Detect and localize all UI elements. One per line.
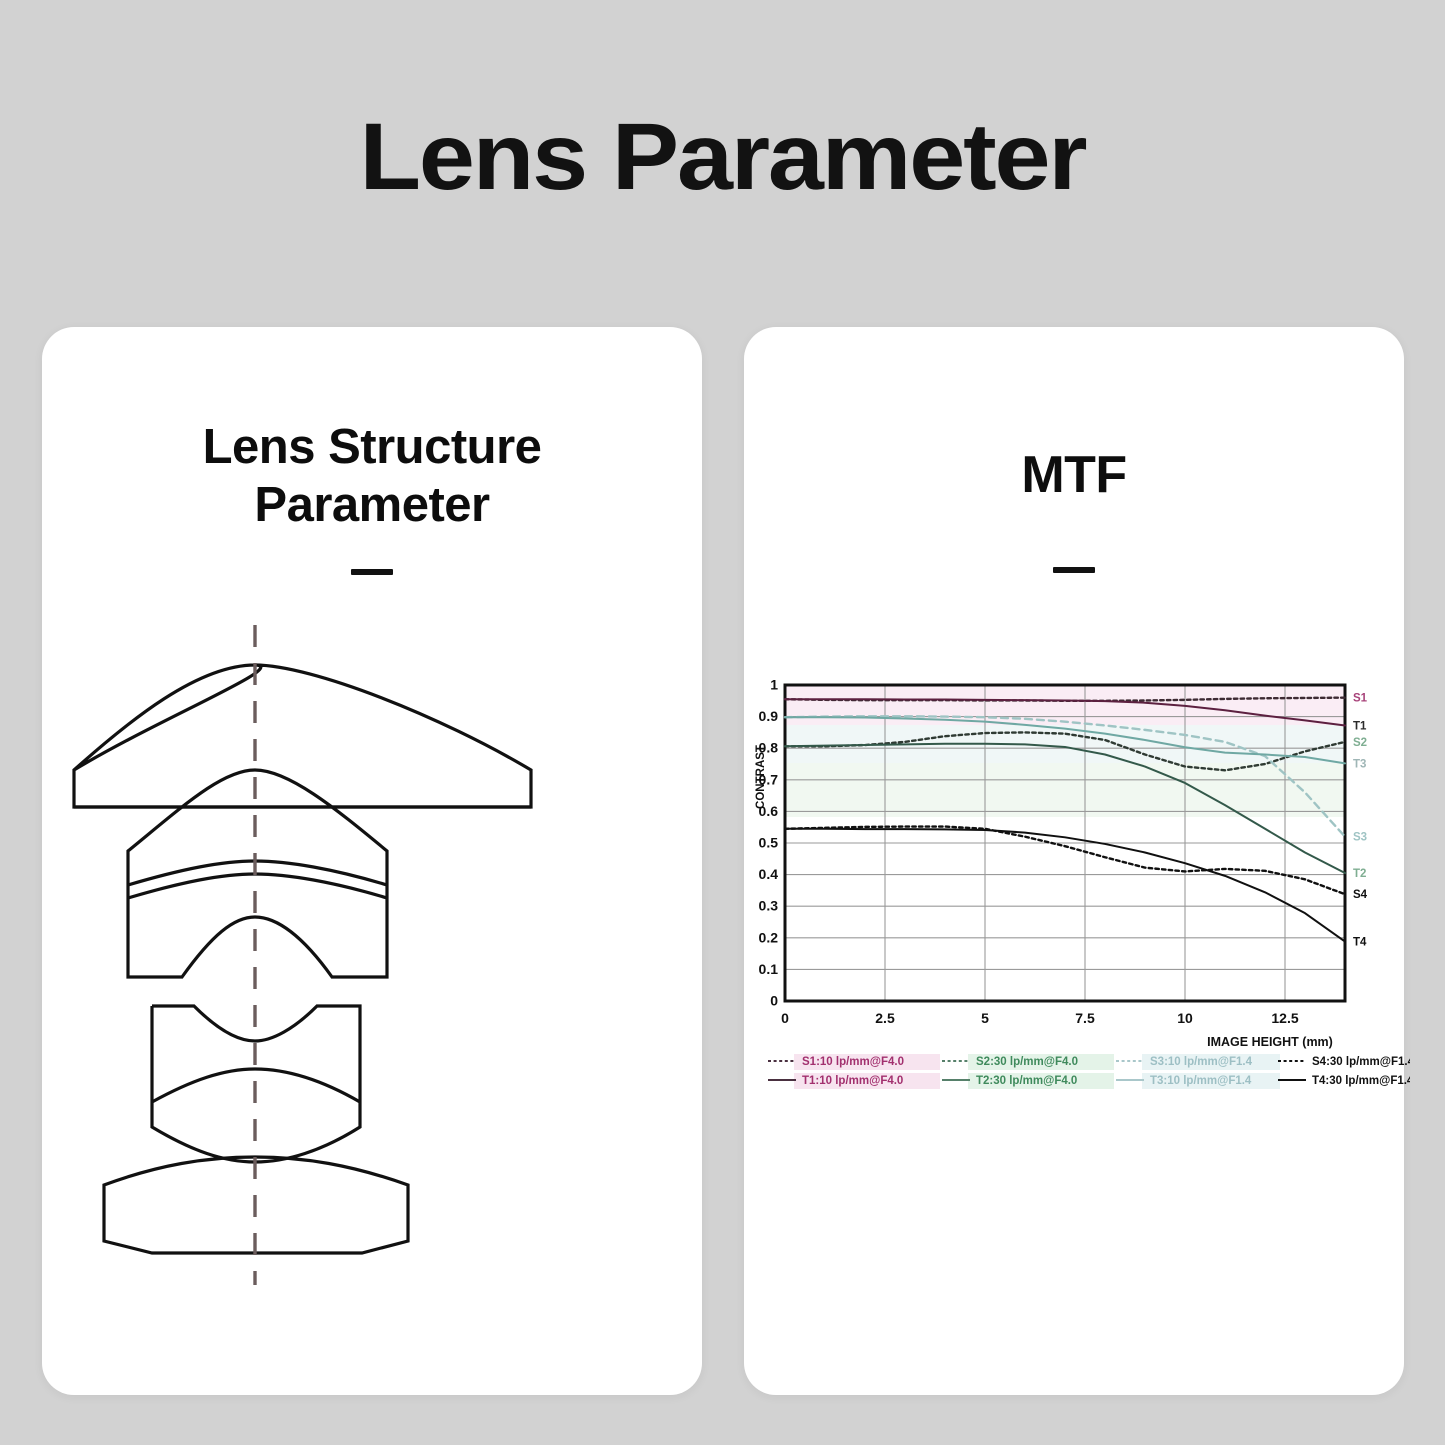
y-tick-label: 0.9 [759, 708, 779, 724]
title-divider [351, 569, 393, 575]
x-axis-label: IMAGE HEIGHT (mm) [1207, 1035, 1333, 1049]
y-tick-label: 0.3 [759, 898, 779, 914]
legend-label: T2:30 lp/mm@F4.0 [976, 1075, 1077, 1087]
x-axis-ticks: 02.557.51012.5 [781, 1010, 1299, 1026]
legend-label: T3:10 lp/mm@F1.4 [1150, 1075, 1252, 1087]
legend-label: S2:30 lp/mm@F4.0 [976, 1056, 1078, 1068]
chart-tints [785, 685, 1345, 817]
chart-legend: S1:10 lp/mm@F4.0T1:10 lp/mm@F4.0S2:30 lp… [768, 1054, 1410, 1089]
card-mtf: MTF S1T1S2T2S3T3S4T4 00.10.20 [744, 327, 1404, 1395]
legend-label: S4:30 lp/mm@F1.4 [1312, 1056, 1410, 1068]
legend-label: T4:30 lp/mm@F1.4 [1312, 1075, 1410, 1087]
title-divider [1053, 567, 1095, 573]
x-tick-label: 10 [1177, 1010, 1193, 1026]
y-tick-label: 0.5 [759, 835, 779, 851]
y-tick-label: 1 [770, 677, 778, 693]
lens-element-4 [128, 898, 387, 977]
x-tick-label: 7.5 [1075, 1010, 1095, 1026]
y-axis-ticks: 00.10.20.30.40.50.60.70.80.91 [759, 677, 779, 1009]
x-tick-label: 0 [781, 1010, 789, 1026]
mtf-chart: S1T1S2T2S3T3S4T4 00.10.20.30.40.50.60.70… [750, 667, 1410, 1117]
card-container: Lens Structure Parameter [42, 327, 1404, 1395]
end-label-T1: T1 [1353, 720, 1367, 732]
legend-label: S3:10 lp/mm@F1.4 [1150, 1056, 1253, 1068]
end-label-T3: T3 [1353, 758, 1366, 770]
end-label-S1: S1 [1353, 693, 1368, 705]
lens-element-3 [128, 874, 387, 898]
mtf-title: MTF [744, 445, 1404, 506]
lens-structure-title-line1: Lens Structure [203, 420, 542, 474]
x-tick-label: 2.5 [875, 1010, 895, 1026]
end-label-S2: S2 [1353, 737, 1367, 749]
end-label-S4: S4 [1353, 889, 1368, 901]
end-label-T2: T2 [1353, 868, 1366, 880]
chart-end-labels: S1T1S2T2S3T3S4T4 [1353, 693, 1368, 949]
y-axis-label: CONTRAST [755, 745, 767, 809]
lens-structure-diagram [42, 617, 702, 1317]
y-tick-label: 0 [770, 993, 778, 1009]
y-tick-label: 0.4 [759, 866, 779, 882]
y-tick-label: 0.1 [759, 961, 779, 977]
lens-structure-title: Lens Structure Parameter [42, 419, 702, 535]
x-tick-label: 5 [981, 1010, 989, 1026]
legend-label: T1:10 lp/mm@F4.0 [802, 1075, 903, 1087]
x-tick-label: 12.5 [1271, 1010, 1298, 1026]
end-label-S3: S3 [1353, 832, 1367, 844]
page-title: Lens Parameter [0, 108, 1445, 208]
legend-label: S1:10 lp/mm@F4.0 [802, 1056, 904, 1068]
card-lens-structure: Lens Structure Parameter [42, 327, 702, 1395]
end-label-T4: T4 [1353, 937, 1367, 949]
lens-structure-title-line2: Parameter [254, 478, 489, 532]
lens-element-2 [128, 770, 387, 885]
y-tick-label: 0.2 [759, 929, 779, 945]
